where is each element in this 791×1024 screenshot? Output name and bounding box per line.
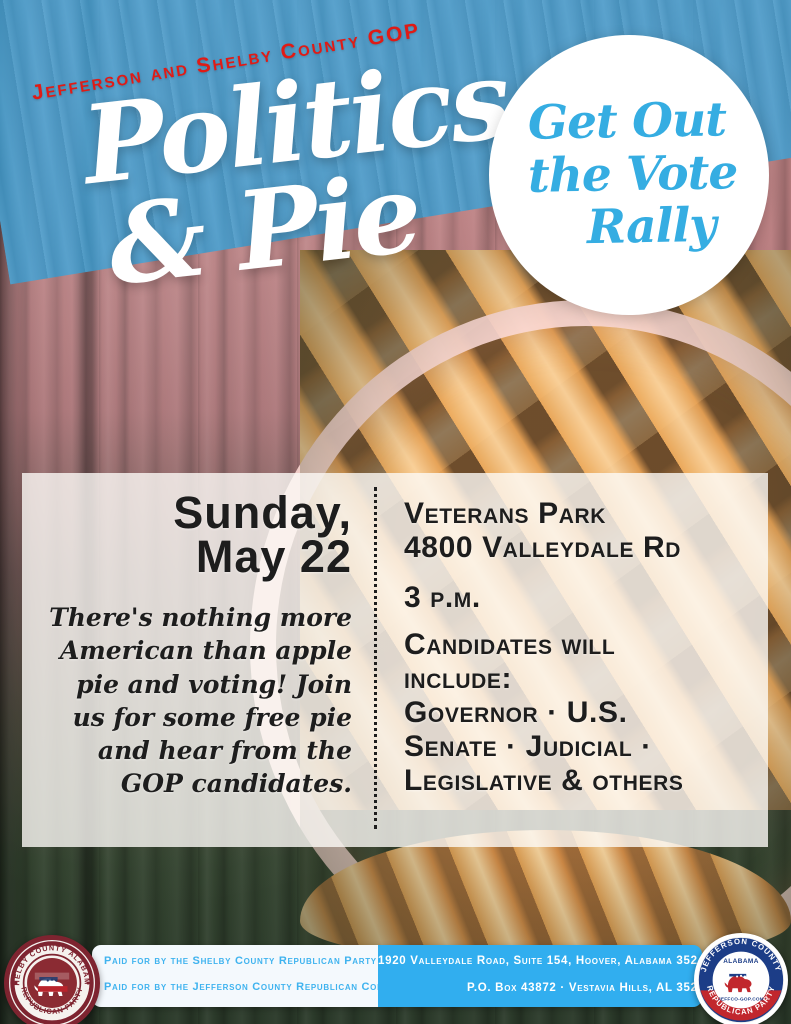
candidates-line-3: Governor · U.S. — [404, 696, 754, 730]
badge-line-2: the Vote — [528, 147, 738, 203]
flyer-canvas: Jefferson and Shelby County GOP Politics… — [0, 0, 791, 1024]
date-column: Sunday, May 22 There's nothing more Amer… — [22, 473, 374, 847]
gop-elephant-icon: ALABAMA JEFFCO-GOP.COM JEFFERSON COUNTY … — [698, 937, 784, 1023]
footer-disclaimers: Paid for by the Shelby County Republican… — [92, 945, 378, 1007]
svg-text:ALABAMA: ALABAMA — [723, 958, 759, 965]
jefferson-county-gop-logo: ALABAMA JEFFCO-GOP.COM JEFFERSON COUNTY … — [694, 933, 788, 1024]
venue-name: Veterans Park — [404, 497, 754, 531]
candidates-line-2: include: — [404, 662, 754, 696]
event-time: 3 p.m. — [404, 581, 754, 615]
date-line-2: May 22 — [173, 535, 352, 579]
event-date: Sunday, May 22 — [173, 491, 352, 579]
candidates-line-1: Candidates will — [404, 628, 754, 662]
svg-text:JEFFCO-GOP.COM: JEFFCO-GOP.COM — [718, 997, 764, 1003]
shelby-county-gop-logo: SHELBY COUNTY ALABAMA REPUBLICAN PARTY — [4, 935, 100, 1024]
candidates-line-5: Legislative & others — [404, 764, 754, 798]
spacer — [404, 616, 754, 628]
venue-column: Veterans Park 4800 Valleydale Rd 3 p.m. … — [378, 473, 768, 847]
badge-line-1: Get Out — [528, 94, 727, 150]
venue-address: 4800 Valleydale Rd — [404, 531, 754, 565]
event-blurb: There's nothing more American than apple… — [40, 601, 352, 801]
badge-line-3: Rally — [586, 200, 716, 255]
candidates-line-4: Senate · Judicial · — [404, 730, 754, 764]
address-jefferson: P.O. Box 43872 · Vestavia Hills, AL 3524… — [378, 983, 702, 995]
get-out-the-vote-badge: Get Out the Vote Rally — [489, 35, 769, 315]
disclaimer-jefferson: Paid for by the Jefferson County Republi… — [104, 982, 378, 993]
address-shelby: 1920 Valleydale Road, Suite 154, Hoover,… — [378, 956, 702, 968]
disclaimer-shelby: Paid for by the Shelby County Republican… — [104, 956, 378, 967]
footer-bar: Paid for by the Shelby County Republican… — [92, 945, 702, 1007]
gop-elephant-icon: SHELBY COUNTY ALABAMA REPUBLICAN PARTY — [9, 940, 95, 1024]
spacer — [404, 565, 754, 581]
footer-addresses: 1920 Valleydale Road, Suite 154, Hoover,… — [378, 945, 702, 1007]
event-details-panel: Sunday, May 22 There's nothing more Amer… — [22, 473, 768, 847]
